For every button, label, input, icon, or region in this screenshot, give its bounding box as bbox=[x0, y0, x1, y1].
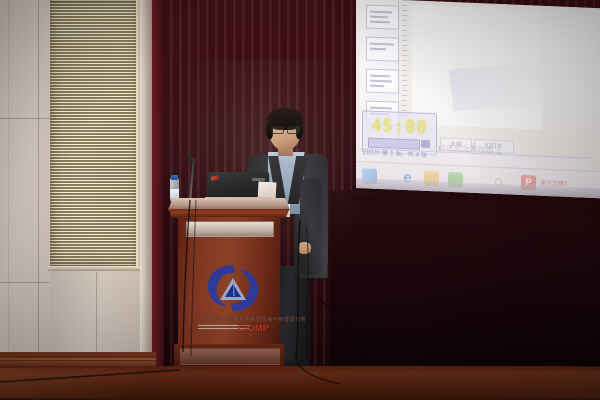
image-vignette bbox=[0, 0, 600, 400]
presentation-photo-scene: 45:00 点击此处添加备注 大纲 幻灯片 幻灯片 第 1 张，共 4 张 e … bbox=[0, 0, 600, 400]
